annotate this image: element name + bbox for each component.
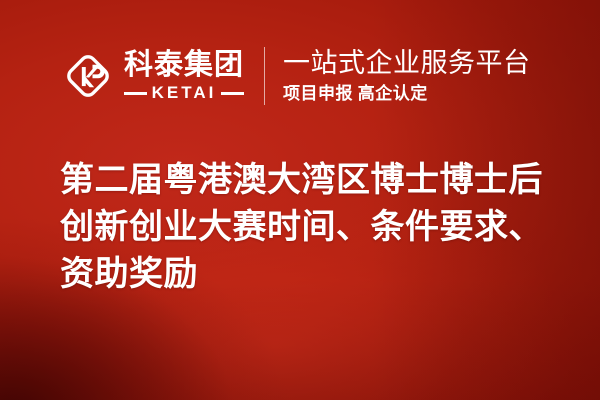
banner-content: 科泰集团 KETAI 一站式企业服务平台 项目申报 高企认定 第二届粤港澳大湾区… xyxy=(0,0,600,400)
header-divider xyxy=(264,47,265,105)
tagline-secondary: 项目申报 高企认定 xyxy=(283,84,531,104)
wordmark-rule-right xyxy=(221,92,244,95)
brand-name-en: KETAI xyxy=(147,84,222,102)
promo-banner: 科泰集团 KETAI 一站式企业服务平台 项目申报 高企认定 第二届粤港澳大湾区… xyxy=(0,0,600,400)
page-title: 第二届粤港澳大湾区博士博士后创新创业大赛时间、条件要求、资助奖励 xyxy=(60,157,565,298)
brand-name-en-row: KETAI xyxy=(124,84,244,102)
tagline-block: 一站式企业服务平台 项目申报 高企认定 xyxy=(283,48,531,104)
wordmark-rule-left xyxy=(124,92,147,95)
tagline-primary: 一站式企业服务平台 xyxy=(283,48,531,78)
wordmark: 科泰集团 KETAI xyxy=(124,50,244,102)
brand-name-cn: 科泰集团 xyxy=(124,50,244,80)
ketai-diamond-kp-logo-icon xyxy=(60,48,116,104)
brand-header: 科泰集团 KETAI 一站式企业服务平台 项目申报 高企认定 xyxy=(60,40,531,112)
